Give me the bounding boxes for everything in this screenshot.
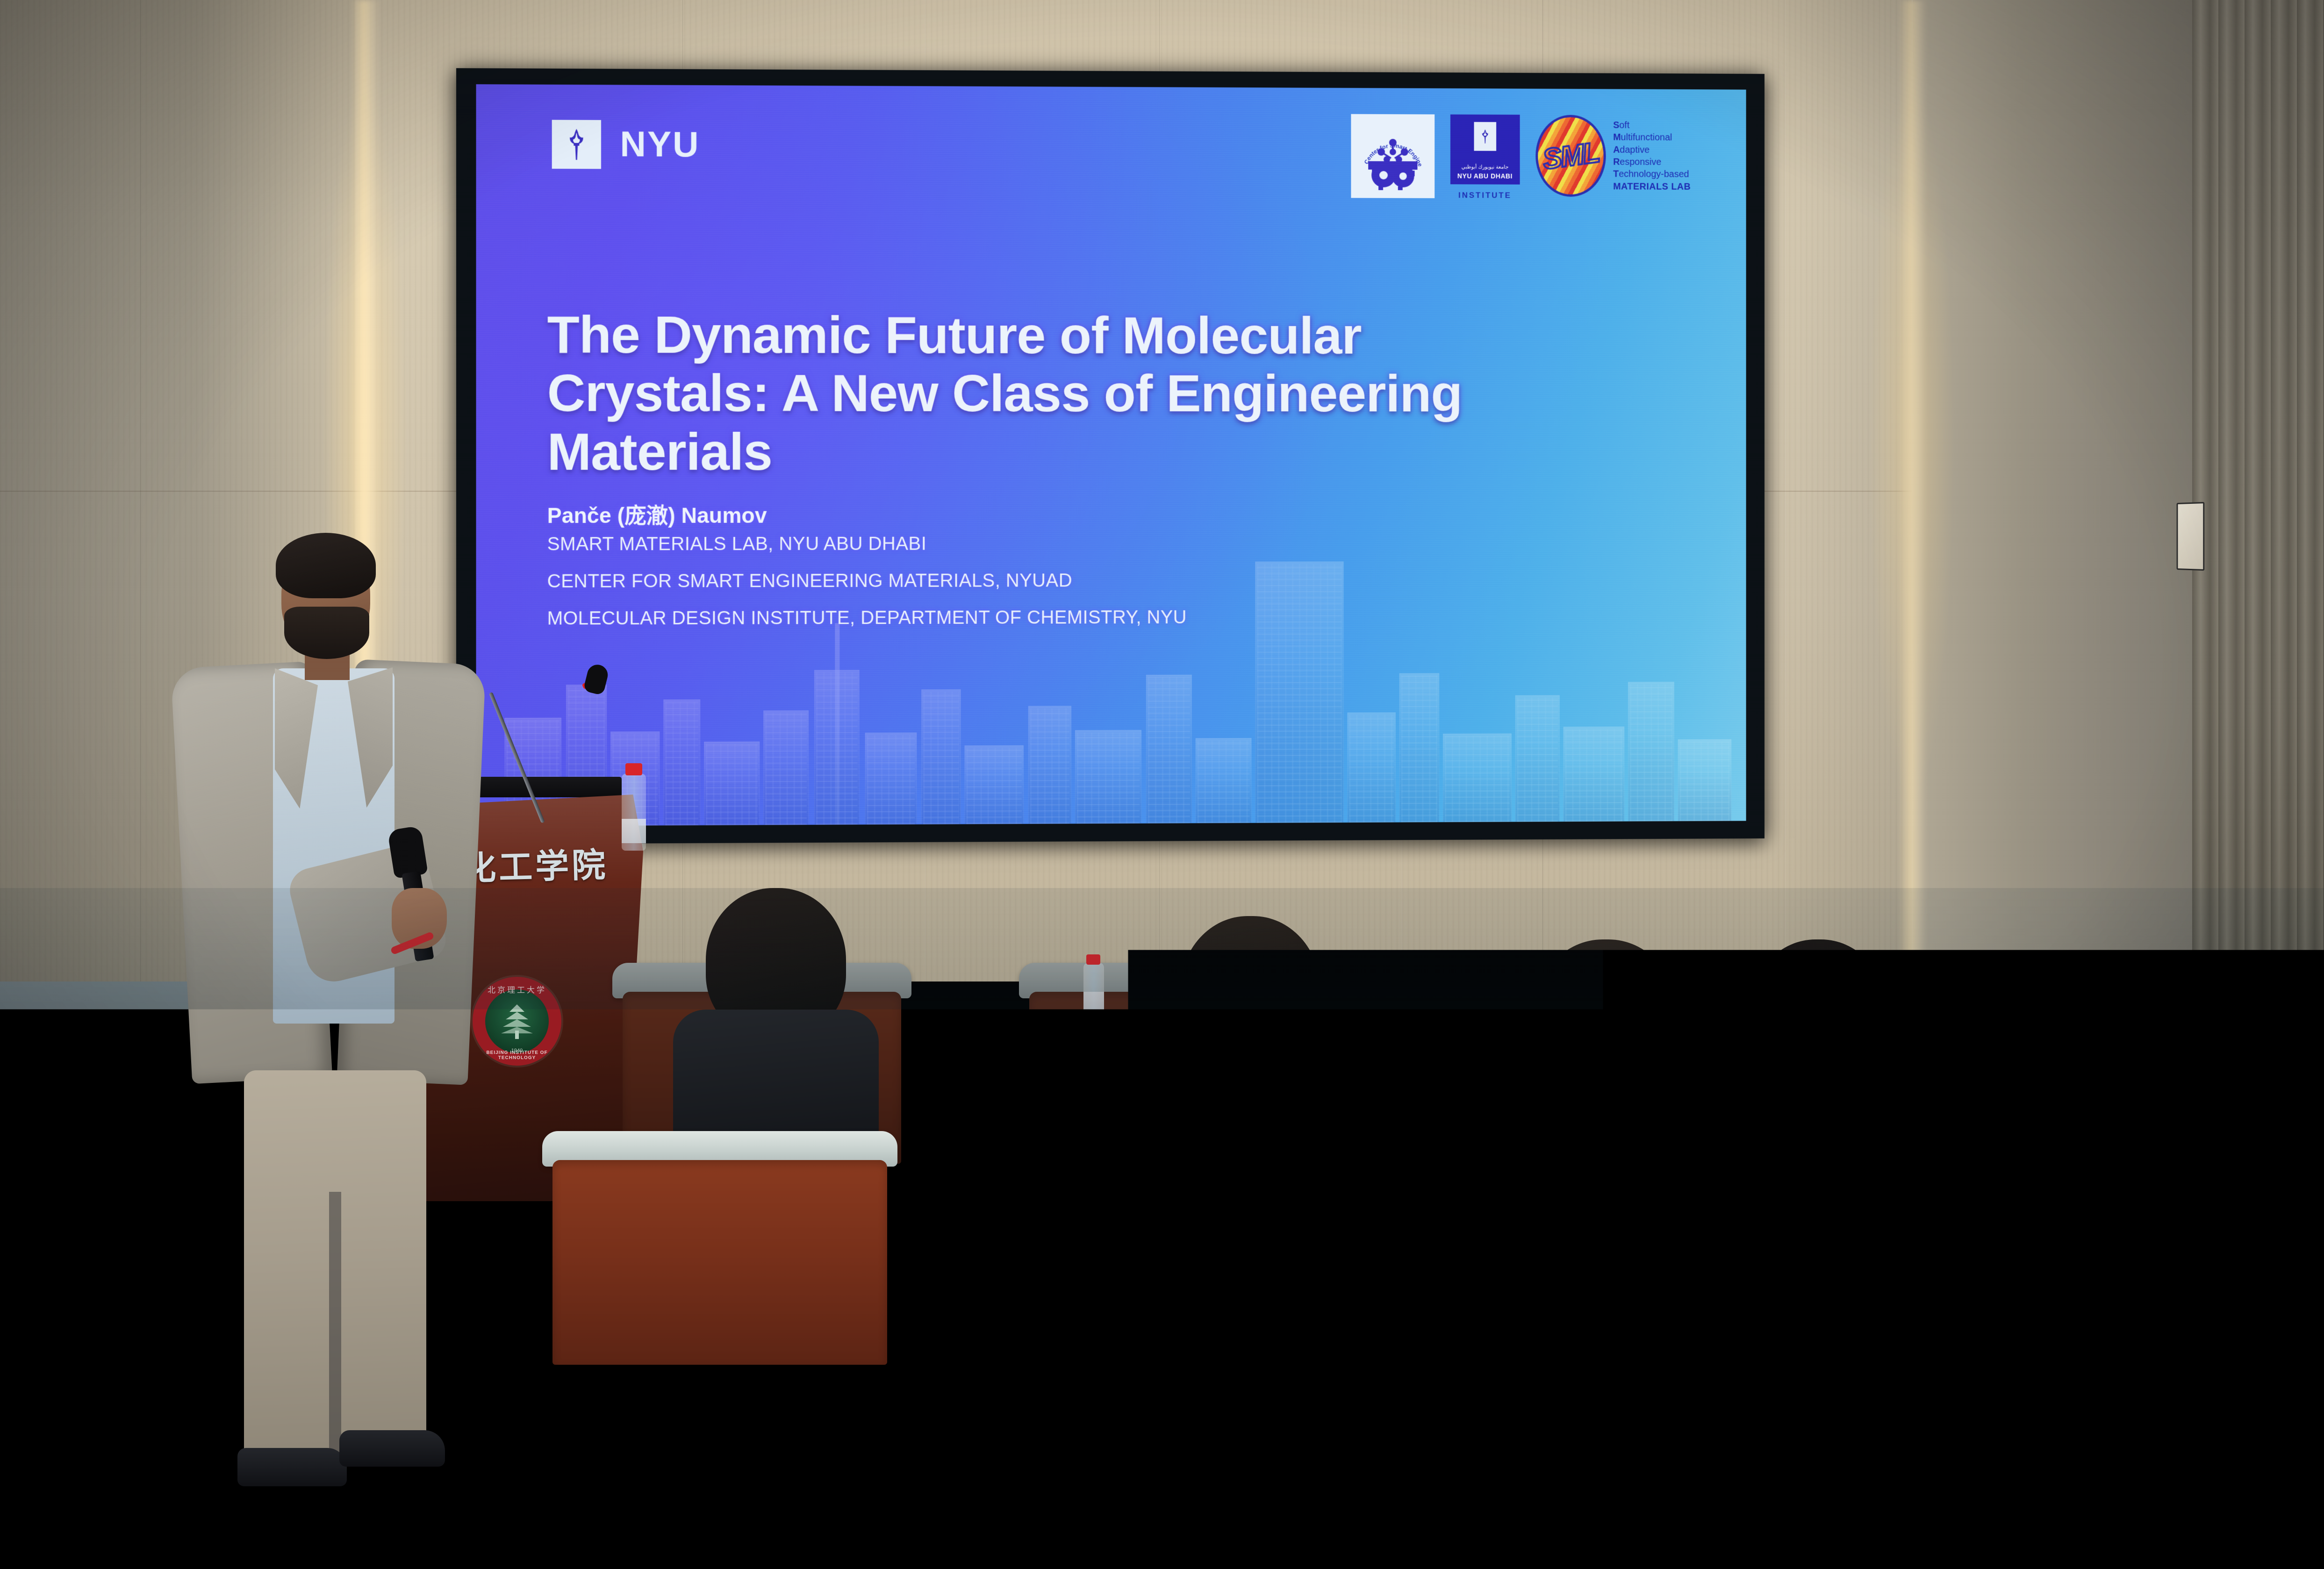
affiliation-line: SMART MATERIALS LAB, NYU ABU DHABI (547, 533, 1187, 555)
gooseneck-microphone[interactable] (538, 668, 631, 823)
partner-logo-strip: Center for Smart Engineering Materials (1351, 114, 1691, 201)
seat[interactable] (1323, 1355, 1734, 1569)
sml-footer-label: MATERIALS LAB (1613, 181, 1691, 193)
slide-affiliations: SMART MATERIALS LAB, NYU ABU DHABI CENTE… (547, 533, 1187, 630)
nyuad-institute-logo: جامعة نيويورك أبوظبي NYU ABU DHABI INSTI… (1450, 115, 1520, 201)
sml-monogram-text: SML (1541, 136, 1601, 176)
sml-monogram-icon: SML (1535, 115, 1606, 197)
nyuad-institute-label: INSTITUTE (1458, 191, 1512, 200)
cable-equipment (12, 1187, 129, 1239)
seat[interactable] (795, 1355, 1215, 1569)
presenter-beard (284, 607, 369, 659)
lecture-hall-scene: NYU Center for Smart Engineering Materia… (0, 0, 2324, 1569)
sml-acronym-list: Soft Multifunctional Adaptive Responsive… (1613, 120, 1691, 193)
audience-member (365, 1225, 692, 1569)
presenter-hair (276, 533, 376, 598)
title-slide: NYU Center for Smart Engineering Materia… (476, 84, 1746, 826)
sml-logo: SML Soft Multifunctional Adaptive Respon… (1535, 115, 1691, 197)
nyuad-arabic-name: جامعة نيويورك أبوظبي (1462, 165, 1509, 170)
affiliation-line: MOLECULAR DESIGN INSTITUTE, DEPARTMENT O… (547, 607, 1187, 630)
nyu-wordmark: NYU (620, 127, 700, 163)
water-bottle (2033, 958, 2053, 1014)
audience-member (1370, 953, 1641, 1355)
water-bottle (1083, 963, 1104, 1024)
slide-title: The Dynamic Future of Molecular Crystals… (547, 306, 1507, 481)
wall-control-panel[interactable] (2177, 502, 2205, 571)
slide-author: Pančе (庞澈) Naumov (547, 498, 767, 530)
torch-icon (552, 120, 601, 169)
nyuad-english-name: NYU ABU DHABI (1457, 172, 1513, 179)
presenter-shoe-left (237, 1448, 347, 1486)
affiliation-line: CENTER FOR SMART ENGINEERING MATERIALS, … (547, 570, 1187, 592)
seat[interactable] (986, 1122, 1351, 1365)
csem-logo: Center for Smart Engineering Materials (1351, 114, 1435, 198)
audience-member (1879, 1257, 2178, 1569)
audience-member (668, 888, 883, 1168)
torch-icon (1474, 122, 1496, 151)
presentation-screen[interactable]: NYU Center for Smart Engineering Materia… (456, 68, 1765, 844)
nyu-logo-lockup: NYU (552, 120, 700, 169)
